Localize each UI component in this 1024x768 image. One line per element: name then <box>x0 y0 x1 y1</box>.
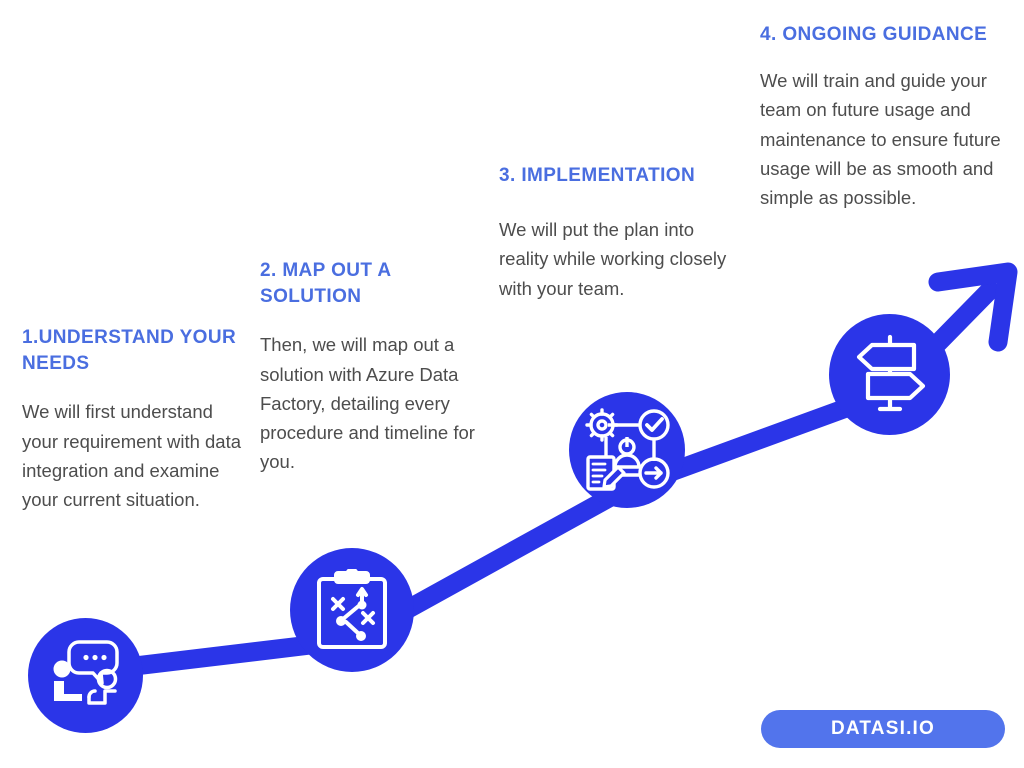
step-text-block-2: 2. MAP OUT A SOLUTION Then, we will map … <box>260 258 475 477</box>
clipboard-strategy-icon <box>315 569 389 651</box>
workflow-process-icon <box>582 407 672 493</box>
step-text-block-4: 4. ONGOING GUIDANCE We will train and gu… <box>760 22 1015 212</box>
step-body-3: We will put the plan into reality while … <box>499 215 741 303</box>
step-title-2: 2. MAP OUT A SOLUTION <box>260 258 475 310</box>
step-icon-circle-4[interactable] <box>829 314 950 435</box>
step-title-1: 1.UNDERSTAND YOUR NEEDS <box>22 325 244 377</box>
people-conversation-icon <box>46 639 126 713</box>
step-icon-circle-3[interactable] <box>569 392 685 508</box>
step-text-block-1: 1.UNDERSTAND YOUR NEEDS We will first un… <box>22 325 244 514</box>
signpost-directions-icon <box>852 334 928 416</box>
step-body-1: We will first understand your requiremen… <box>22 397 244 514</box>
step-text-block-3: 3. IMPLEMENTATION We will put the plan i… <box>499 163 741 303</box>
brand-label: DATASI.IO <box>831 718 935 740</box>
step-icon-circle-1[interactable] <box>28 618 143 733</box>
step-body-2: Then, we will map out a solution with Az… <box>260 330 475 476</box>
step-body-4: We will train and guide your team on fut… <box>760 66 1015 212</box>
step-title-3: 3. IMPLEMENTATION <box>499 163 741 189</box>
infographic-canvas: 1.UNDERSTAND YOUR NEEDS We will first un… <box>0 0 1024 768</box>
brand-badge[interactable]: DATASI.IO <box>761 710 1005 748</box>
step-icon-circle-2[interactable] <box>290 548 414 672</box>
step-title-4: 4. ONGOING GUIDANCE <box>760 22 1015 48</box>
